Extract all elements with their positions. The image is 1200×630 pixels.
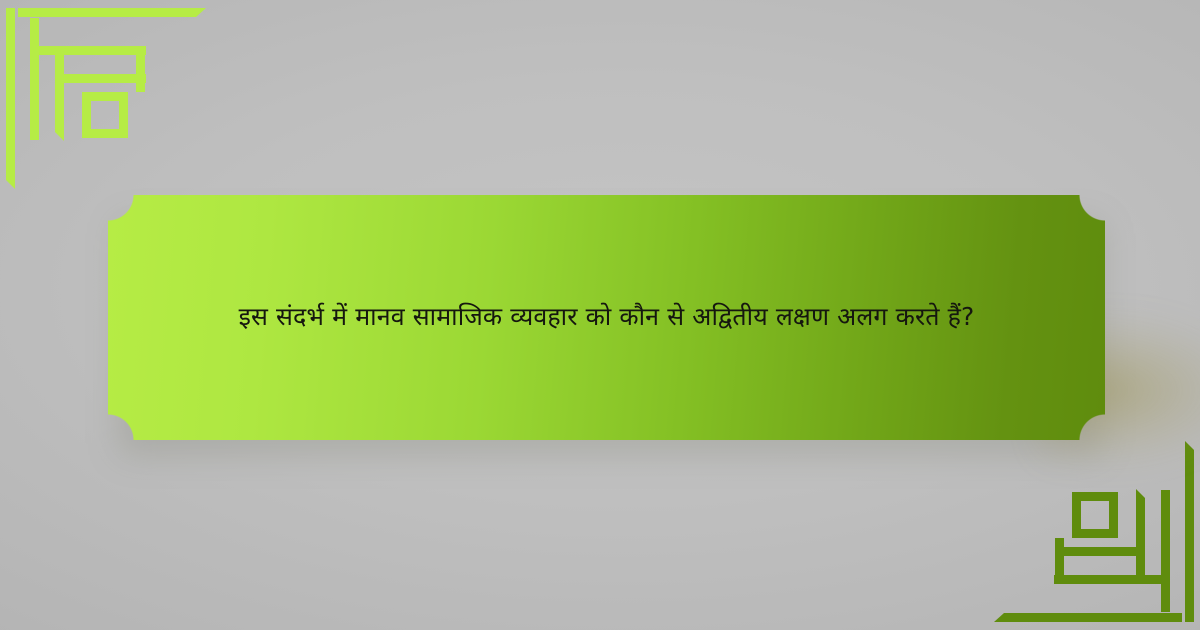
question-card: इस संदर्भ में मानव सामाजिक व्यवहार को कौ… [108, 195, 1105, 440]
question-content: इस संदर्भ में मानव सामाजिक व्यवहार को कौ… [108, 195, 1105, 440]
question-text: इस संदर्भ में मानव सामाजिक व्यवहार को कौ… [170, 288, 1043, 347]
slide-canvas: इस संदर्भ में मानव सामाजिक व्यवहार को कौ… [0, 0, 1200, 630]
corner-ornament-top-left-icon [0, 0, 210, 200]
